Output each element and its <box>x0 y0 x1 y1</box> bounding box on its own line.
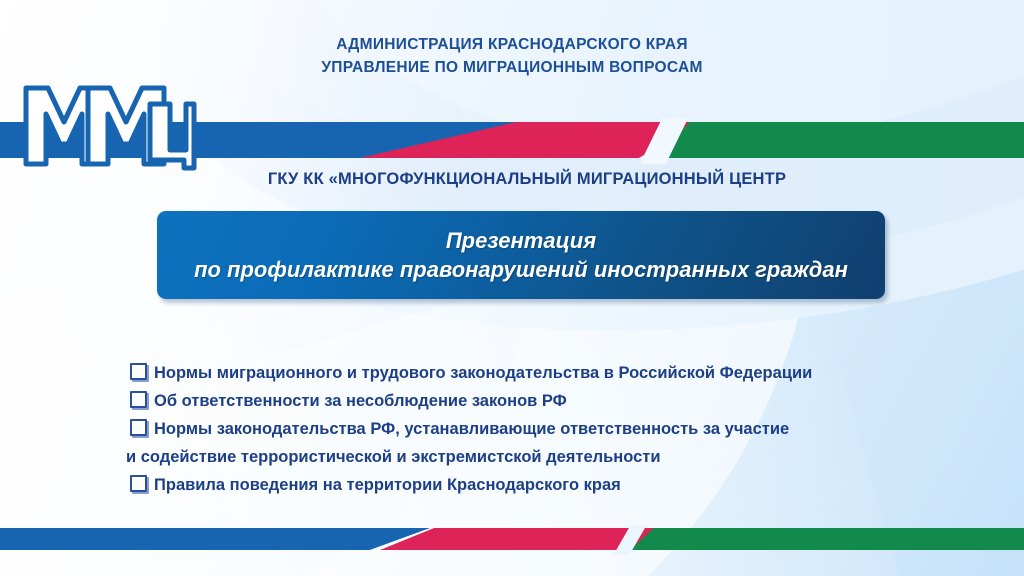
list-item: Нормы законодательства РФ, устанавливающ… <box>130 416 940 442</box>
presentation-slide: АДМИНИСТРАЦИЯ КРАСНОДАРСКОГО КРАЯ УПРАВЛ… <box>0 0 1024 576</box>
list-item: Об ответственности за несоблюдение закон… <box>130 388 940 414</box>
title-line-1: Презентация <box>446 226 596 255</box>
list-item: Правила поведения на территории Краснода… <box>130 472 940 498</box>
list-item-label: Нормы миграционного и трудового законода… <box>154 360 812 386</box>
band-segment-blue <box>0 528 430 550</box>
list-item-label: Нормы законодательства РФ, устанавливающ… <box>154 416 789 442</box>
square-bullet-icon <box>130 391 154 415</box>
list-item: Нормы миграционного и трудового законода… <box>130 360 940 386</box>
presentation-title-box: Презентация по профилактике правонарушен… <box>157 211 885 299</box>
square-bullet-icon <box>130 475 154 499</box>
topic-list: Нормы миграционного и трудового законода… <box>130 360 940 500</box>
square-bullet-icon <box>130 419 154 443</box>
organization-header: АДМИНИСТРАЦИЯ КРАСНОДАРСКОГО КРАЯ УПРАВЛ… <box>0 33 1024 79</box>
organization-line-1: АДМИНИСТРАЦИЯ КРАСНОДАРСКОГО КРАЯ <box>336 36 688 53</box>
list-item-continuation: и содействие террористической и экстреми… <box>130 444 940 470</box>
list-item-label: Об ответственности за несоблюдение закон… <box>154 388 567 414</box>
center-name: ГКУ КК «МНОГОФУНКЦИОНАЛЬНЫЙ МИГРАЦИОННЫЙ… <box>0 170 1024 189</box>
list-item-label: и содействие террористической и экстреми… <box>126 444 661 470</box>
tricolor-band-bottom <box>0 528 1024 550</box>
organization-line-2: УПРАВЛЕНИЕ ПО МИГРАЦИОННЫМ ВОПРОСАМ <box>0 56 1024 79</box>
list-item-label: Правила поведения на территории Краснода… <box>154 472 621 498</box>
mmc-logo <box>22 80 198 172</box>
band-segment-green <box>660 122 1024 158</box>
square-bullet-icon <box>130 363 154 387</box>
title-line-2: по профилактике правонарушений иностранн… <box>194 255 848 285</box>
band-segment-green <box>630 528 1024 550</box>
